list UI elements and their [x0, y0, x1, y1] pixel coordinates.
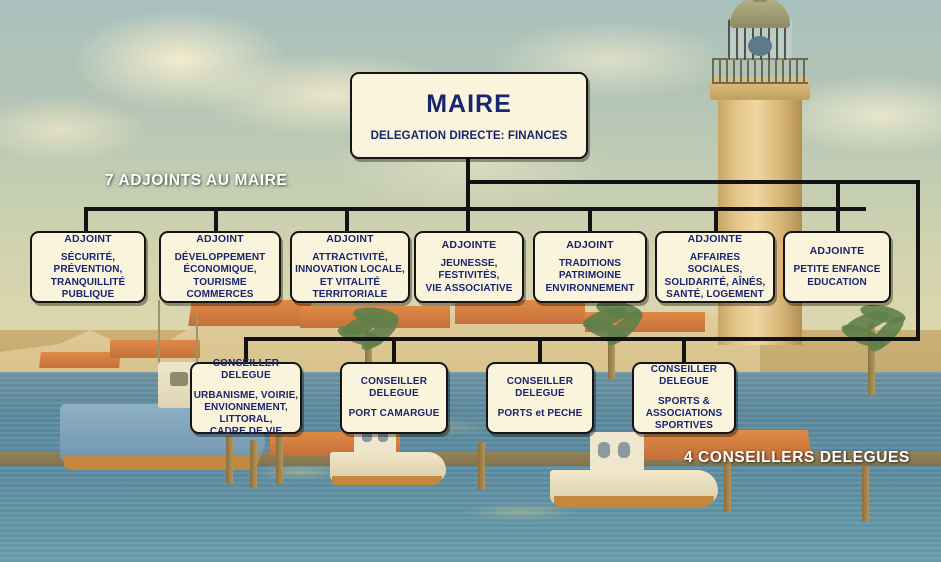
conseiller-portfolio: PORT CAMARGUE — [349, 408, 440, 420]
node-conseiller-port-camargue[interactable]: CONSEILLERDELEGUE PORT CAMARGUE — [340, 362, 448, 434]
node-maire[interactable]: MAIRE DELEGATION DIRECTE: FINANCES — [350, 72, 588, 159]
adjoint-role: ADJOINTE — [442, 239, 497, 251]
node-adjoint-developpement[interactable]: ADJOINT DÉVELOPPEMENTÉCONOMIQUE,TOURISME… — [159, 231, 281, 303]
connector-drop-adjoint-6 — [714, 207, 718, 233]
node-adjointe-petite-enfance[interactable]: ADJOINTE PETITE ENFANCEEDUCATION — [783, 231, 891, 303]
conseiller-portfolio: PORTS et PECHE — [498, 408, 583, 420]
adjoint-role: ADJOINT — [326, 233, 374, 245]
caption-conseillers: 4 CONSEILLERS DELEGUES — [684, 449, 910, 467]
connector-drop-adjoint-5 — [588, 207, 592, 233]
conseiller-role: CONSEILLERDELEGUE — [361, 376, 427, 400]
connector-conseillers-bus — [244, 337, 920, 341]
connector-adjoints-bus — [84, 207, 866, 211]
caption-adjoints: 7 ADJOINTS AU MAIRE — [105, 172, 288, 190]
adjoint-role: ADJOINT — [566, 239, 614, 251]
connector-drop-adjoint-2 — [214, 207, 218, 233]
connector-maire-stem — [466, 159, 470, 209]
node-adjoint-traditions[interactable]: ADJOINT TRADITIONSPATRIMOINEENVIRONNEMEN… — [533, 231, 647, 303]
connector-drop-adjoint-4 — [466, 207, 470, 233]
organigramme-screenshot: 7 ADJOINTS AU MAIRE 4 CONSEILLERS DELEGU… — [0, 0, 941, 562]
conseiller-role: CONSEILLERDELEGUE — [651, 364, 717, 388]
adjoint-portfolio: JEUNESSE,FESTIVITÉS,VIE ASSOCIATIVE — [425, 258, 512, 295]
connector-drop-conseiller-3 — [538, 337, 542, 364]
connector-drop-adjoint-3 — [345, 207, 349, 233]
connector-drop-adjoint-7 — [836, 180, 840, 233]
adjoint-portfolio: AFFAIRESSOCIALES,SOLIDARITÉ, AÎNÉS,SANTÉ… — [665, 252, 766, 301]
connector-upper-bus — [466, 180, 920, 184]
adjoint-portfolio: ATTRACTIVITÉ,INNOVATION LOCALE,ET VITALI… — [295, 252, 405, 301]
maire-subtitle: DELEGATION DIRECTE: FINANCES — [371, 130, 568, 142]
adjoint-portfolio: SÉCURITÉ,PRÉVENTION,TRANQUILLITÉPUBLIQUE — [51, 252, 126, 301]
adjoint-portfolio: PETITE ENFANCEEDUCATION — [794, 264, 881, 288]
conseiller-role: CONSEILLERDELEGUE — [213, 358, 279, 382]
connector-drop-adjoint-1 — [84, 207, 88, 233]
adjoint-portfolio: TRADITIONSPATRIMOINEENVIRONNEMENT — [545, 258, 634, 295]
node-adjointe-affaires-sociales[interactable]: ADJOINTE AFFAIRESSOCIALES,SOLIDARITÉ, AÎ… — [655, 231, 775, 303]
conseiller-portfolio: URBANISME, VOIRIE,ENVIONNEMENT,LITTORAL,… — [194, 390, 299, 439]
adjoint-portfolio: DÉVELOPPEMENTÉCONOMIQUE,TOURISMECOMMERCE… — [175, 252, 266, 301]
node-conseiller-urbanisme[interactable]: CONSEILLERDELEGUE URBANISME, VOIRIE,ENVI… — [190, 362, 302, 434]
adjoint-role: ADJOINTE — [688, 233, 743, 245]
node-conseiller-ports-peche[interactable]: CONSEILLERDELEGUE PORTS et PECHE — [486, 362, 594, 434]
adjoint-role: ADJOINT — [64, 233, 112, 245]
node-adjoint-attractivite[interactable]: ADJOINT ATTRACTIVITÉ,INNOVATION LOCALE,E… — [290, 231, 410, 303]
connector-drop-conseiller-2 — [392, 337, 396, 364]
conseiller-portfolio: SPORTS &ASSOCIATIONSSPORTIVES — [646, 396, 723, 433]
conseiller-role: CONSEILLERDELEGUE — [507, 376, 573, 400]
adjoint-role: ADJOINT — [196, 233, 244, 245]
connector-right-riser — [916, 180, 920, 341]
adjoint-role: ADJOINTE — [810, 245, 865, 257]
node-conseiller-sports[interactable]: CONSEILLERDELEGUE SPORTS &ASSOCIATIONSSP… — [632, 362, 736, 434]
connector-drop-conseiller-4 — [682, 337, 686, 364]
node-adjoint-securite[interactable]: ADJOINT SÉCURITÉ,PRÉVENTION,TRANQUILLITÉ… — [30, 231, 146, 303]
maire-title: MAIRE — [426, 90, 512, 119]
node-adjointe-jeunesse[interactable]: ADJOINTE JEUNESSE,FESTIVITÉS,VIE ASSOCIA… — [414, 231, 524, 303]
